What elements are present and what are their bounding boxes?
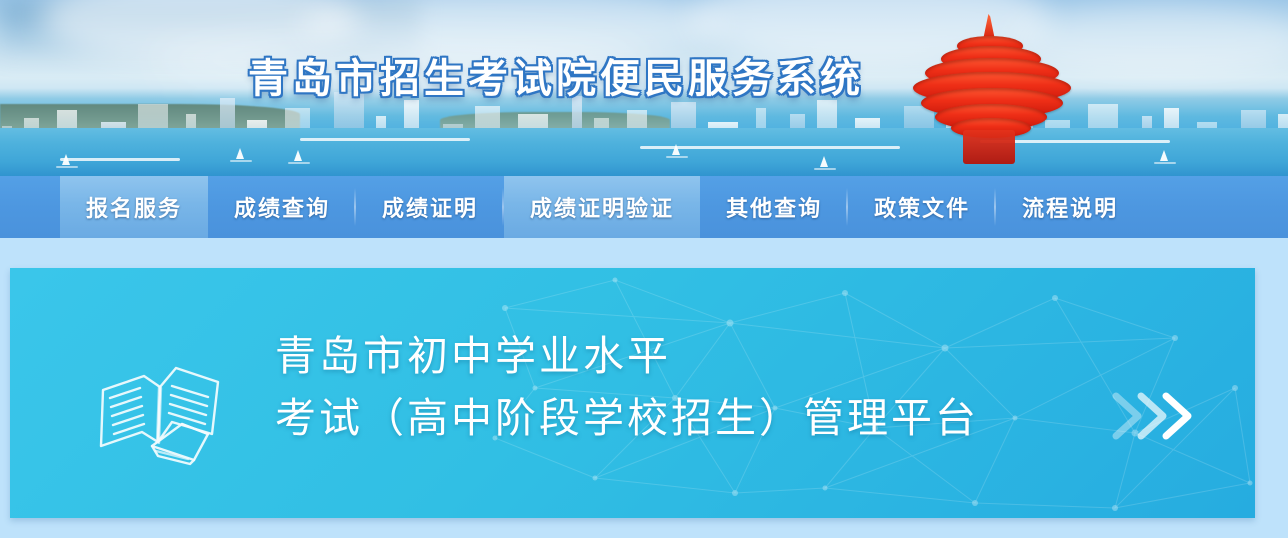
nav-item-label: 其他查询 bbox=[726, 191, 822, 223]
nav-item-list: 报名服务成绩查询成绩证明成绩证明验证其他查询政策文件流程说明 bbox=[60, 176, 1144, 238]
boat-wake bbox=[56, 166, 78, 168]
may-wind-sculpture-icon bbox=[905, 14, 1080, 164]
sculpture-base bbox=[963, 130, 1015, 164]
nav-item-zhengce-wenjian[interactable]: 政策文件 bbox=[848, 176, 996, 238]
nav-item-baoming-fuwu[interactable]: 报名服务 bbox=[60, 176, 208, 238]
platform-entry-banner[interactable]: 青岛市初中学业水平 考试（高中阶段学校招生）管理平台 bbox=[10, 268, 1255, 518]
sea-water bbox=[0, 128, 1288, 176]
pier bbox=[300, 138, 470, 141]
boat-wake bbox=[666, 156, 688, 158]
pier bbox=[60, 158, 180, 161]
banner-title-line1: 青岛市初中学业水平 bbox=[275, 326, 1055, 388]
banner-title-line2: 考试（高中阶段学校招生）管理平台 bbox=[275, 388, 1055, 450]
nav-item-liucheng-shuoming[interactable]: 流程说明 bbox=[996, 176, 1144, 238]
boat-wake bbox=[230, 160, 252, 162]
triple-chevron-right-icon[interactable] bbox=[1110, 386, 1200, 446]
sailboat bbox=[1160, 150, 1168, 161]
sailboat bbox=[236, 148, 244, 159]
sailboat bbox=[672, 144, 680, 155]
sailboat bbox=[294, 150, 302, 161]
sailboat bbox=[820, 156, 828, 167]
nav-item-label: 成绩查询 bbox=[234, 191, 330, 223]
sailboat bbox=[62, 154, 70, 165]
nav-item-label: 成绩证明 bbox=[382, 191, 478, 223]
page-root: 青岛市招生考试院便民服务系统 报名服务成绩查询成绩证明成绩证明验证其他查询政策文… bbox=[0, 0, 1288, 538]
nav-item-chengji-chaxun[interactable]: 成绩查询 bbox=[208, 176, 356, 238]
nav-item-label: 报名服务 bbox=[86, 191, 182, 223]
open-book-icon bbox=[98, 360, 228, 470]
banner-title: 青岛市初中学业水平 考试（高中阶段学校招生）管理平台 bbox=[275, 326, 1055, 449]
page-title: 青岛市招生考试院便民服务系统 bbox=[196, 46, 916, 104]
main-navigation-bar: 报名服务成绩查询成绩证明成绩证明验证其他查询政策文件流程说明 bbox=[0, 176, 1288, 238]
nav-item-qita-chaxun[interactable]: 其他查询 bbox=[700, 176, 848, 238]
site-header-banner-image: 青岛市招生考试院便民服务系统 bbox=[0, 0, 1288, 176]
boat-wake bbox=[1154, 162, 1176, 164]
content-area: 青岛市初中学业水平 考试（高中阶段学校招生）管理平台 bbox=[0, 238, 1288, 538]
nav-item-label: 政策文件 bbox=[874, 191, 970, 223]
nav-item-chengji-zhengming[interactable]: 成绩证明 bbox=[356, 176, 504, 238]
nav-left-spacer bbox=[0, 176, 60, 238]
boat-wake bbox=[288, 162, 310, 164]
nav-item-label: 成绩证明验证 bbox=[530, 191, 674, 223]
nav-item-label: 流程说明 bbox=[1022, 191, 1118, 223]
nav-item-chengji-zhengming-yanzheng[interactable]: 成绩证明验证 bbox=[504, 176, 700, 238]
boat-wake bbox=[814, 168, 836, 170]
